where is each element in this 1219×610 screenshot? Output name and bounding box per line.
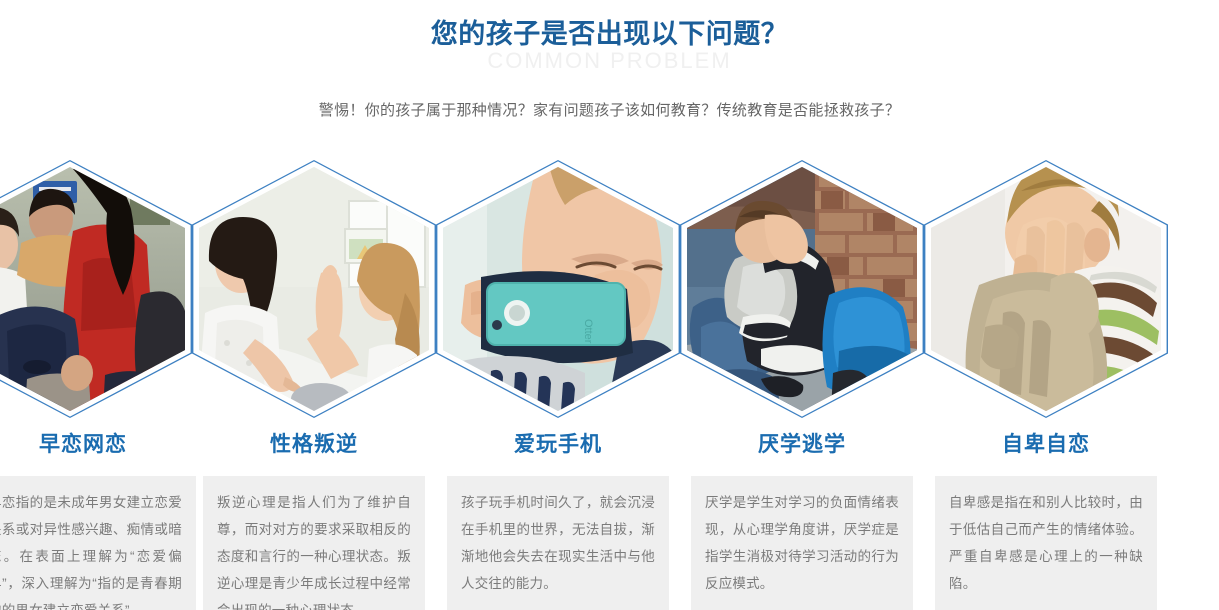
card-description: 厌学是学生对学习的负面情绪表现，从心理学角度讲，厌学症是指学生消极对待学习活动的… [691,476,913,610]
card-description: 孩子玩手机时间久了，就会沉浸在手机里的世界，无法自拔，渐渐地他会失去在现实生活中… [447,476,669,610]
common-problem-section: 您的孩子是否出现以下问题？ COMMON PROBLEM 警惕！你的孩子属于那种… [0,0,1219,610]
page-title: 您的孩子是否出现以下问题？ [0,18,1219,52]
intro-text: 警惕！你的孩子属于那种情况？家有问题孩子该如何教育？传统教育是否能拯救孩子？ [0,100,1219,123]
students-hugging-photo [0,167,185,411]
problem-card[interactable]: 自卑自恋 自卑感是指在和别人比较时，由于低估自己而产生的情绪体验。严重自卑感是心… [924,160,1168,610]
hexagon-image-frame [192,160,436,418]
card-description: 早恋指的是未成年男女建立恋爱关系或对异性感兴趣、痴情或暗恋。在表面上理解为“恋爱… [0,476,196,610]
card-description: 自卑感是指在和别人比较时，由于低估自己而产生的情绪体验。严重自卑感是心理上的一种… [935,476,1157,610]
hexagon-image-frame: Otter [436,160,680,418]
card-title: 自卑自恋 [1002,432,1090,457]
problem-card-list: 早恋网恋 早恋指的是未成年男女建立恋爱关系或对异性感兴趣、痴情或暗恋。在表面上理… [0,160,1219,610]
page-subtitle-en: COMMON PROBLEM [0,48,1219,74]
hexagon-image-frame [924,160,1168,418]
hexagon-image-frame [0,160,192,418]
svg-text:Otter: Otter [582,319,594,344]
card-title: 性格叛逆 [270,432,358,457]
card-description: 叛逆心理是指人们为了维护自尊，而对对方的要求采取相反的态度和言行的一种心理状态。… [203,476,425,610]
card-title: 爱玩手机 [514,432,602,457]
hexagon-image-frame [680,160,924,418]
problem-card[interactable]: 性格叛逆 叛逆心理是指人们为了维护自尊，而对对方的要求采取相反的态度和言行的一种… [192,160,436,610]
problem-card[interactable]: Otter 爱玩手机 孩子玩手机时间久了，就会沉浸在手机里的世界，无 [436,160,680,610]
card-title: 厌学逃学 [758,432,846,457]
card-title: 早恋网恋 [39,432,127,457]
problem-card[interactable]: 厌学逃学 厌学是学生对学习的负面情绪表现，从心理学角度讲，厌学症是指学生消极对待… [680,160,924,610]
section-header: 您的孩子是否出现以下问题？ COMMON PROBLEM 警惕！你的孩子属于那种… [0,0,1219,123]
problem-card[interactable]: 早恋网恋 早恋指的是未成年男女建立恋爱关系或对异性感兴趣、痴情或暗恋。在表面上理… [0,160,192,610]
